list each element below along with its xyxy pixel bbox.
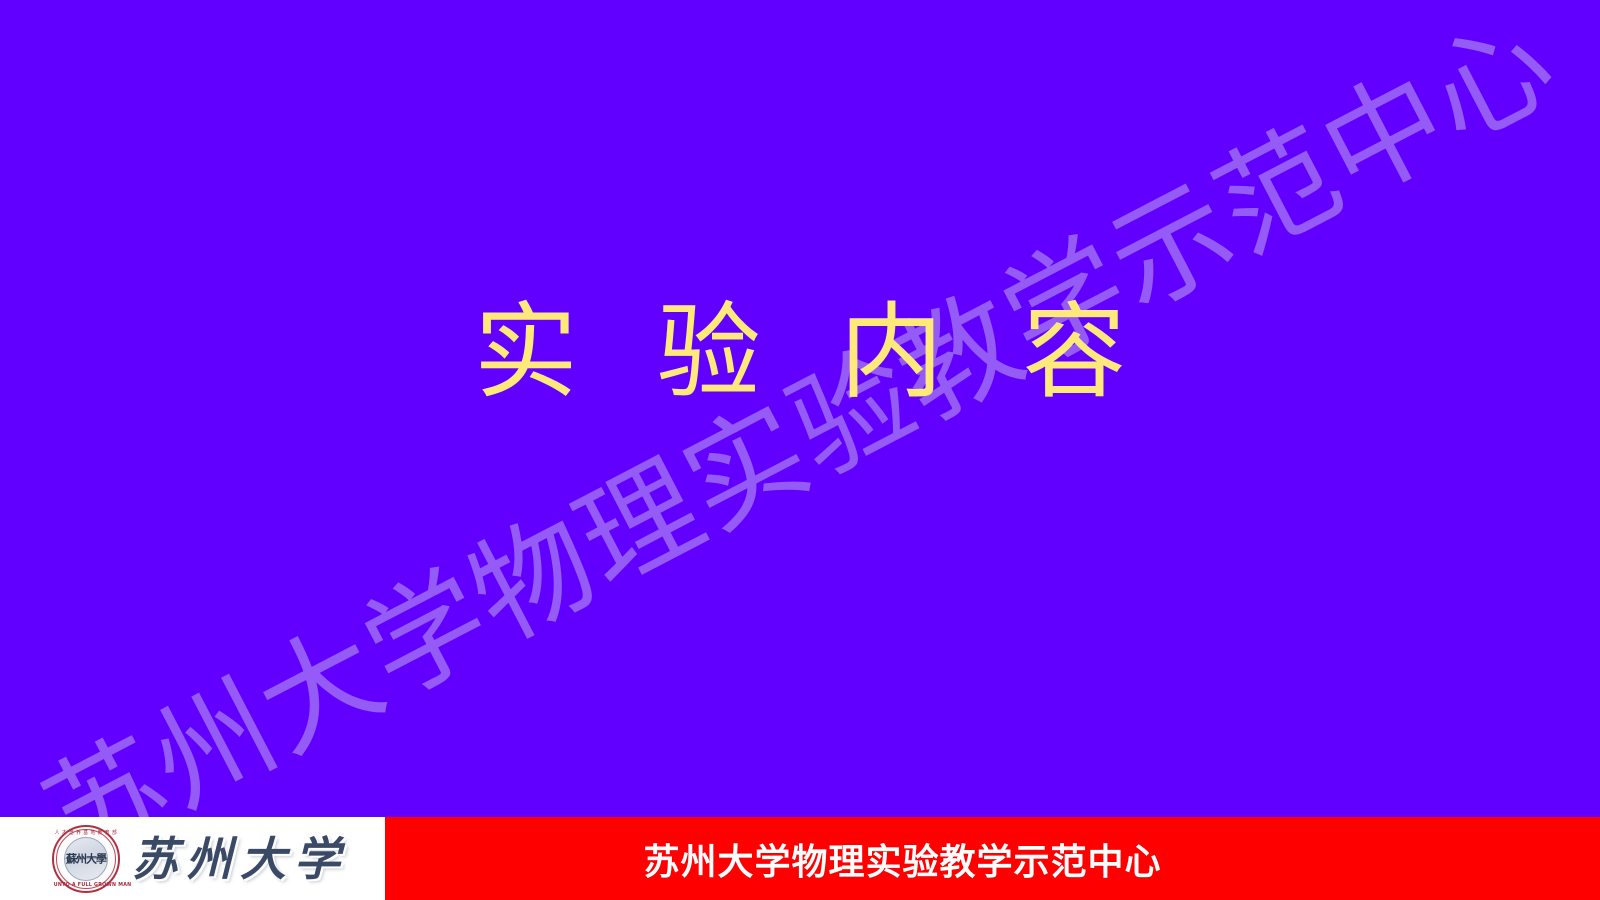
seal-arc-bottom-text: UNTO A FULL GROWN MAN bbox=[54, 882, 119, 888]
footer-brand-block: 人 才 培 养 基 地 教 育 部 蘇州大學 UNTO A FULL GROWN… bbox=[0, 817, 385, 900]
footer-banner-label: 苏州大学物理实验教学示范中心 bbox=[643, 833, 1161, 885]
footer-red-banner: 苏州大学物理实验教学示范中心 bbox=[385, 817, 1600, 900]
slide-footer: 人 才 培 养 基 地 教 育 部 蘇州大學 UNTO A FULL GROWN… bbox=[0, 817, 1600, 900]
university-wordmark: 苏州大学 bbox=[132, 836, 348, 882]
university-seal-icon: 人 才 培 养 基 地 教 育 部 蘇州大學 UNTO A FULL GROWN… bbox=[52, 825, 120, 893]
slide-canvas: 苏州大学物理实验教学示范中心 实 验 内 容 bbox=[0, 0, 1600, 817]
presentation-slide: 苏州大学物理实验教学示范中心 实 验 内 容 人 才 培 养 基 地 教 育 部… bbox=[0, 0, 1600, 900]
page-title: 实 验 内 容 bbox=[0, 296, 1600, 408]
seal-arc-top-text: 人 才 培 养 基 地 教 育 部 bbox=[55, 829, 118, 836]
seal-center-text: 蘇州大學 bbox=[52, 850, 120, 866]
